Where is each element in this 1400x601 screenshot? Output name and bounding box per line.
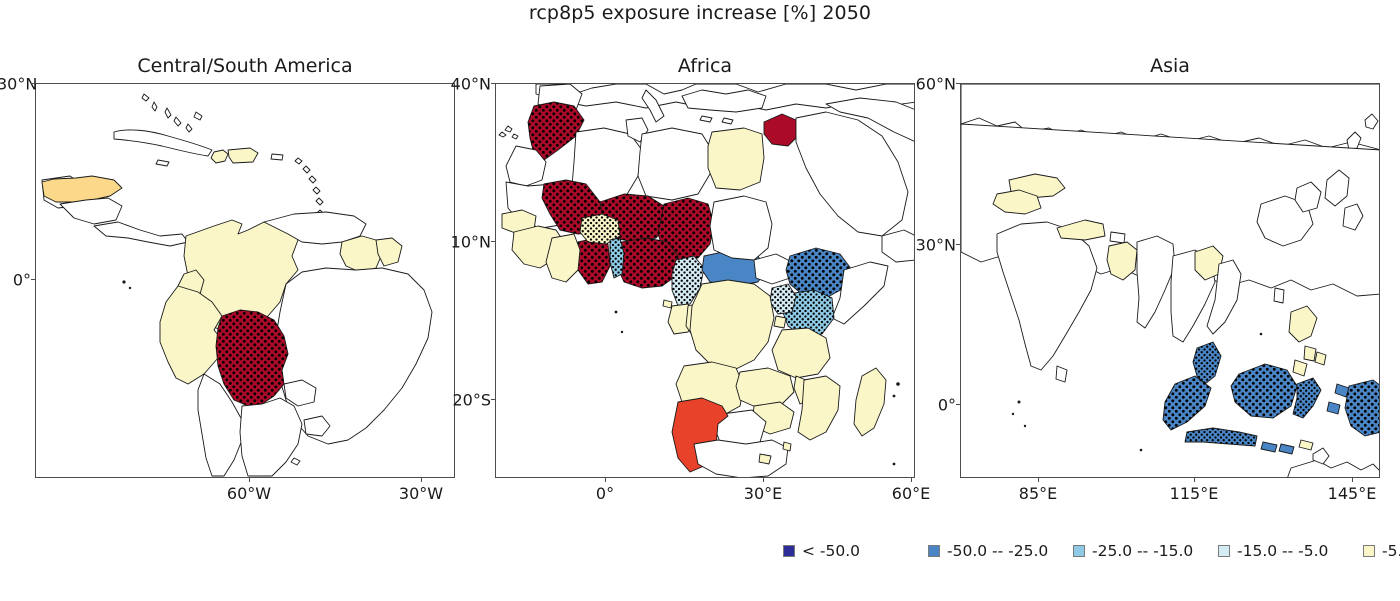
figure-root: rcp8p5 exposure increase [%] 2050 Centra… — [0, 0, 1400, 601]
legend-entry-2: -25.0 -- -15.0 — [1073, 540, 1218, 562]
ytick-africa-2: 20°S — [443, 391, 491, 410]
ytick-africa-1: 10°N — [443, 233, 491, 252]
xtickmark-americas-1 — [421, 478, 422, 482]
xtickmark-africa-2 — [911, 478, 912, 482]
map-americas — [36, 84, 455, 478]
ytick-asia-0: 60°N — [908, 75, 956, 94]
legend-label-4: -5.0 -- 5.0 — [1382, 542, 1400, 560]
legend-entry-4: -5.0 -- 5.0 — [1363, 540, 1400, 562]
ytick-americas-1: 0° — [0, 271, 31, 290]
ytick-asia-2: 0° — [908, 396, 956, 415]
legend-label-3: -15.0 -- -5.0 — [1237, 542, 1328, 560]
figure-title: rcp8p5 exposure increase [%] 2050 — [0, 2, 1400, 24]
legend-label-1: -50.0 -- -25.0 — [947, 542, 1048, 560]
xtick-asia-1: 115°E — [1170, 484, 1219, 503]
map-axes-africa[interactable] — [495, 83, 915, 478]
xtick-africa-0: 0° — [596, 484, 614, 503]
ytickmark-africa-2 — [491, 399, 495, 400]
legend-swatch-icon-0 — [783, 545, 795, 557]
map-axes-americas[interactable] — [35, 83, 455, 478]
xtick-africa-2: 60°E — [892, 484, 930, 503]
ytick-asia-1: 30°N — [908, 236, 956, 255]
legend-entry-3: -15.0 -- -5.0 — [1218, 540, 1363, 562]
ytickmark-asia-1 — [956, 244, 960, 245]
legend-label-2: -25.0 -- -15.0 — [1092, 542, 1193, 560]
ytick-americas-0: 30°N — [0, 75, 31, 94]
ytick-africa-0: 40°N — [443, 75, 491, 94]
map-axes-asia[interactable] — [960, 83, 1380, 478]
ytickmark-africa-0 — [491, 83, 495, 84]
xtick-asia-0: 85°E — [1019, 484, 1057, 503]
xtick-americas-1: 30°W — [399, 484, 443, 503]
xtick-africa-1: 30°E — [744, 484, 782, 503]
panel-title-americas: Central/South America — [35, 55, 455, 77]
ytickmark-asia-2 — [956, 404, 960, 405]
colorbar-legend: < -50.0 -50.0 -- -25.0 -25.0 -- -15.0 -1… — [783, 540, 1383, 562]
map-asia — [961, 84, 1380, 478]
ytickmark-americas-1 — [31, 279, 35, 280]
xtick-asia-2: 145°E — [1328, 484, 1377, 503]
legend-entry-1: -50.0 -- -25.0 — [928, 540, 1073, 562]
panel-title-africa: Africa — [495, 55, 915, 77]
xtickmark-americas-0 — [249, 478, 250, 482]
ytickmark-africa-1 — [491, 241, 495, 242]
xtickmark-asia-1 — [1194, 478, 1195, 482]
legend-swatch-icon-4 — [1363, 545, 1375, 557]
map-africa — [496, 84, 915, 478]
legend-entry-0: < -50.0 — [783, 540, 928, 562]
legend-swatch-icon-3 — [1218, 545, 1230, 557]
xtickmark-asia-2 — [1352, 478, 1353, 482]
xtickmark-asia-0 — [1038, 478, 1039, 482]
legend-label-0: < -50.0 — [802, 542, 860, 560]
legend-swatch-icon-2 — [1073, 545, 1085, 557]
legend-swatch-icon-1 — [928, 545, 940, 557]
xtickmark-africa-0 — [605, 478, 606, 482]
xtick-americas-0: 60°W — [227, 484, 271, 503]
ytickmark-americas-0 — [31, 83, 35, 84]
ytickmark-asia-0 — [956, 83, 960, 84]
xtickmark-africa-1 — [763, 478, 764, 482]
panel-title-asia: Asia — [960, 55, 1380, 77]
